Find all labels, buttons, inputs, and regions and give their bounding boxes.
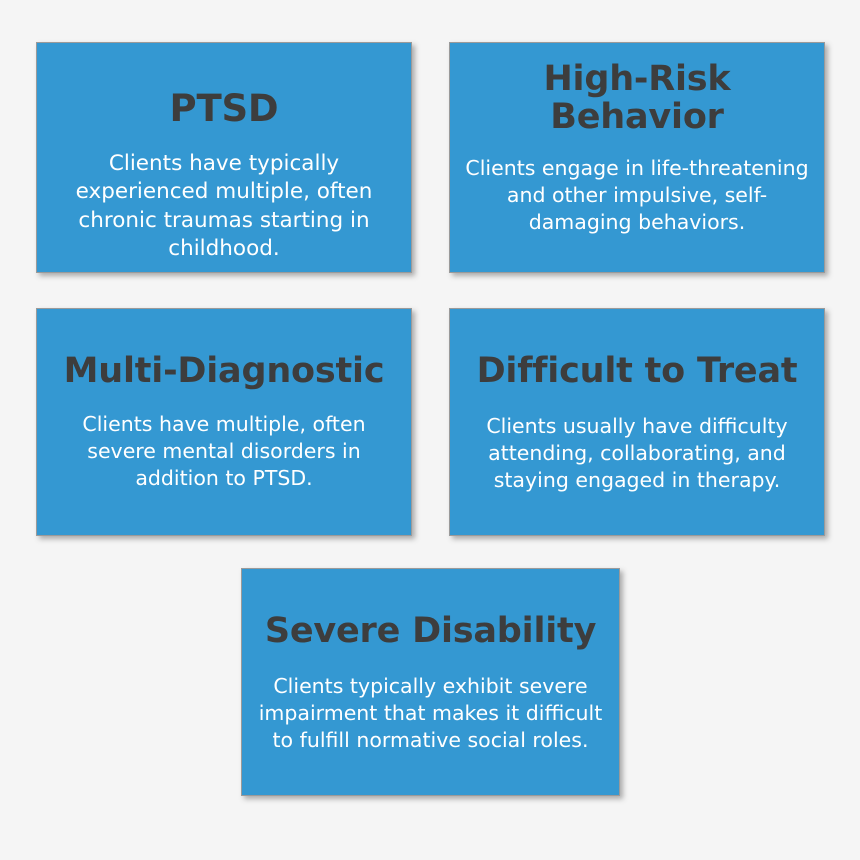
card-multi-diagnostic: Multi-Diagnostic Clients have multiple, … — [36, 308, 412, 536]
card-severe-disability: Severe Disability Clients typically exhi… — [241, 568, 620, 796]
card-high-risk-behavior-body: Clients engage in life-threatening and o… — [454, 155, 820, 236]
card-multi-diagnostic-body: Clients have multiple, often severe ment… — [43, 411, 405, 492]
card-ptsd: PTSD Clients have typically experienced … — [36, 42, 412, 273]
card-high-risk-behavior: High-Risk Behavior Clients engage in lif… — [449, 42, 825, 273]
card-grid: PTSD Clients have typically experienced … — [0, 0, 860, 860]
card-severe-disability-title: Severe Disability — [252, 613, 609, 651]
card-difficult-to-treat-title: Difficult to Treat — [460, 353, 814, 391]
card-high-risk-behavior-title: High-Risk Behavior — [460, 61, 814, 137]
card-multi-diagnostic-title: Multi-Diagnostic — [47, 353, 401, 391]
card-ptsd-title: PTSD — [47, 89, 401, 129]
card-difficult-to-treat-body: Clients usually have difficulty attendin… — [449, 413, 825, 494]
card-ptsd-body: Clients have typically experienced multi… — [43, 150, 405, 264]
card-difficult-to-treat: Difficult to Treat Clients usually have … — [449, 308, 825, 536]
card-severe-disability-body: Clients typically exhibit severe impairm… — [242, 673, 619, 754]
